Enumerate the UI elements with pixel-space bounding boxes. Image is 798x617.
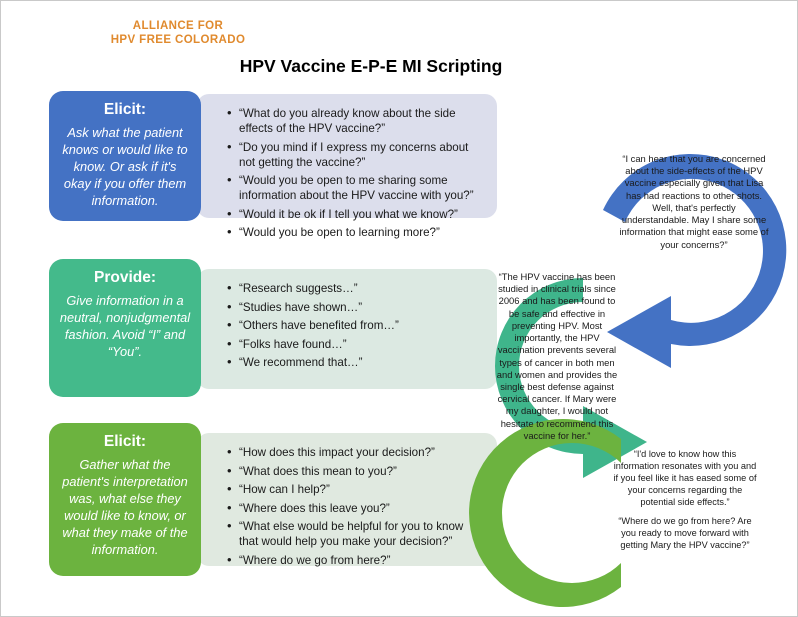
provide-description: Give information in a neutral, nonjudgme… [59,292,191,360]
elicit-2-description: Gather what the patient's interpretation… [59,456,191,558]
list-item: “Where do we go from here?” [227,553,483,568]
org-logo-line-1: ALLIANCE FOR [63,19,293,33]
elicit-1-bullet-list: “What do you already know about the side… [227,106,483,241]
organization-logo: ALLIANCE FOR HPV FREE COLORADO [63,19,293,48]
green-arrow-script-paragraph-1: “I'd love to know how this information r… [611,449,759,509]
list-item: “Would you be open to me sharing some in… [227,173,483,203]
elicit-1-bullet-panel: “What do you already know about the side… [197,94,497,218]
page-title: HPV Vaccine E-P-E MI Scripting [1,56,741,77]
teal-arrow-script-text: “The HPV vaccine has been studied in cli… [493,271,621,442]
elicit-2-label-box: Elicit: Gather what the patient's interp… [49,423,201,576]
elicit-1-label-box: Elicit: Ask what the patient knows or wo… [49,91,201,221]
org-logo-line-2: HPV FREE COLORADO [63,33,293,47]
list-item: “What else would be helpful for you to k… [227,519,483,549]
provide-label-box: Provide: Give information in a neutral, … [49,259,201,397]
elicit-2-title: Elicit: [59,432,191,451]
green-arrow-script-paragraph-2: “Where do we go from here? Are you ready… [611,516,759,552]
blue-arrow-script-text: “I can hear that you are concerned about… [619,153,769,251]
provide-title: Provide: [59,268,191,287]
green-arrow-script-text: “I'd love to know how this information r… [611,449,759,552]
elicit-1-description: Ask what the patient knows or would like… [59,124,191,209]
list-item: “What do you already know about the side… [227,106,483,136]
scripting-infographic: ALLIANCE FOR HPV FREE COLORADO HPV Vacci… [0,0,798,617]
list-item: “Would it be ok if I tell you what we kn… [227,207,483,222]
elicit-1-title: Elicit: [59,100,191,119]
list-item: “Do you mind if I express my concerns ab… [227,140,483,170]
